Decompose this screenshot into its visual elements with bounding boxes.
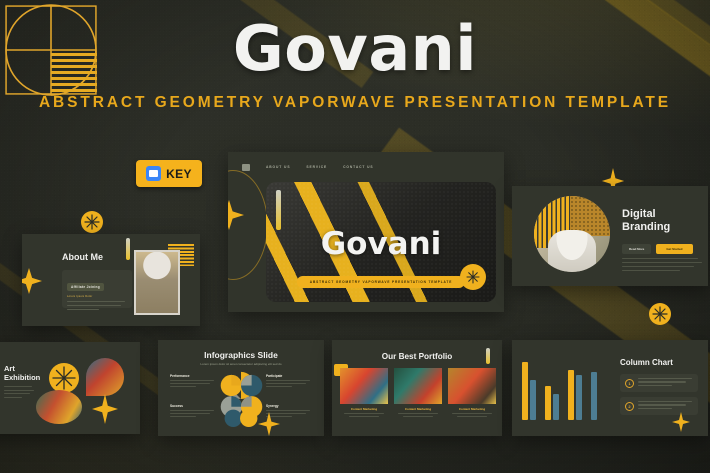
branding-collage-image bbox=[534, 196, 610, 272]
artwork-image bbox=[86, 358, 124, 396]
list-item[interactable]: Content Marketing bbox=[448, 368, 496, 417]
infographic-item: Participate bbox=[266, 374, 314, 389]
chart-bar bbox=[530, 380, 536, 420]
text-line bbox=[266, 386, 292, 387]
chart-bar-group bbox=[522, 362, 536, 420]
slide-title-line2: Branding bbox=[622, 221, 670, 233]
about-card-subtitle: Lorem Ipsum Dolor bbox=[67, 295, 127, 298]
slide-subtitle: Lorem ipsum dolor sit amet consectetur a… bbox=[158, 362, 324, 366]
slide-preview-about-me[interactable]: About Me Affiliate Joining Lorem Ipsum D… bbox=[22, 234, 200, 326]
decorative-arc bbox=[228, 170, 268, 280]
format-badge-label: KEY bbox=[166, 167, 192, 181]
chart-bar-group bbox=[568, 370, 582, 420]
portfolio-caption: Content Marketing bbox=[394, 407, 442, 411]
four-point-star-icon bbox=[92, 394, 118, 424]
text-line bbox=[4, 397, 22, 398]
about-card-tag: Affiliate Joining bbox=[67, 283, 104, 291]
paragraph-placeholder bbox=[4, 386, 34, 400]
slide-preview-infographics[interactable]: Infographics Slide Lorem ipsum dolor sit… bbox=[158, 340, 324, 436]
keynote-icon bbox=[146, 166, 161, 181]
slide-preview-portfolio[interactable]: Our Best Portfolio Content Marketing Con… bbox=[332, 340, 502, 436]
text-line bbox=[452, 413, 492, 414]
text-line bbox=[349, 416, 379, 417]
starburst-icon bbox=[460, 264, 486, 290]
chart-legend-row: 1 bbox=[620, 374, 698, 392]
accent-bar bbox=[126, 238, 130, 260]
portfolio-image bbox=[340, 368, 388, 404]
text-line bbox=[457, 416, 487, 417]
text-line bbox=[67, 305, 121, 306]
text-line bbox=[170, 416, 196, 417]
text-line bbox=[67, 309, 99, 310]
slide-title-line2: Exhibition bbox=[4, 373, 40, 382]
slide-title: Art Exhibition bbox=[4, 364, 40, 383]
chart-bar bbox=[568, 370, 574, 420]
slide-title-line1: Art bbox=[4, 364, 15, 373]
slide-preview-hero[interactable]: ABOUT US SERVICE CONTACT US Govani ABSTR… bbox=[228, 152, 504, 312]
portfolio-caption: Content Marketing bbox=[340, 407, 388, 411]
nav-item-about[interactable]: ABOUT US bbox=[266, 165, 290, 169]
list-item[interactable]: Content Marketing bbox=[340, 368, 388, 417]
read-more-button[interactable]: Read More bbox=[622, 244, 651, 254]
hero-text-block: Govani ABSTRACT GEOMETRY VAPORWAVE PRESE… bbox=[0, 18, 710, 112]
slide-preview-digital-branding[interactable]: Digital Branding Read More Get Started bbox=[512, 186, 708, 286]
slide-title: Column Chart bbox=[620, 358, 673, 367]
hamburger-icon[interactable] bbox=[242, 164, 250, 171]
slide-button-group: Read More Get Started bbox=[622, 244, 693, 254]
slide-title: About Me bbox=[62, 252, 103, 262]
chart-bar bbox=[576, 375, 582, 420]
text-line bbox=[398, 413, 438, 414]
list-item[interactable]: Content Marketing bbox=[394, 368, 442, 417]
text-line bbox=[344, 413, 384, 414]
slide-title: Infographics Slide bbox=[158, 350, 324, 360]
chart-bar bbox=[591, 372, 597, 420]
text-line bbox=[638, 385, 672, 386]
figure-silhouette bbox=[548, 230, 596, 272]
text-line bbox=[170, 383, 210, 384]
get-started-button[interactable]: Get Started bbox=[656, 244, 692, 254]
paragraph-placeholder bbox=[638, 378, 692, 387]
four-point-star-icon bbox=[672, 412, 690, 432]
text-line bbox=[622, 270, 680, 271]
text-line bbox=[4, 390, 34, 391]
infographic-label: Performance bbox=[170, 374, 218, 378]
portfolio-card-list: Content Marketing Content Marketing Cont… bbox=[340, 368, 496, 417]
slide-title: Govani bbox=[266, 226, 496, 262]
text-line bbox=[638, 381, 686, 382]
starburst-circle-icon bbox=[48, 362, 80, 394]
infographic-item: Success bbox=[170, 404, 218, 419]
page-title: Govani bbox=[0, 18, 710, 80]
slide-preview-art-exhibition[interactable]: Art Exhibition bbox=[0, 342, 140, 434]
starburst-glyph bbox=[464, 268, 482, 286]
infographic-label: Participate bbox=[266, 374, 314, 378]
slide-title-line1: Digital bbox=[622, 208, 656, 220]
nav-item-contact[interactable]: CONTACT US bbox=[343, 165, 373, 169]
slide-title: Our Best Portfolio bbox=[332, 352, 502, 361]
text-line bbox=[266, 380, 310, 381]
text-line bbox=[170, 413, 210, 414]
avatar bbox=[134, 250, 180, 315]
chart-bar bbox=[545, 386, 551, 420]
text-line bbox=[638, 404, 686, 405]
portfolio-image bbox=[394, 368, 442, 404]
accent-bar bbox=[486, 348, 490, 364]
slide-navbar: ABOUT US SERVICE CONTACT US bbox=[242, 162, 494, 172]
text-line bbox=[266, 383, 306, 384]
portfolio-image bbox=[448, 368, 496, 404]
text-line bbox=[622, 262, 702, 263]
chart-bar-group bbox=[591, 372, 597, 420]
text-line bbox=[67, 301, 125, 302]
format-badge-key[interactable]: KEY bbox=[136, 160, 202, 187]
text-line bbox=[4, 386, 32, 387]
text-line bbox=[638, 378, 692, 379]
infographic-item: Performance bbox=[170, 374, 218, 389]
infographic-label: Synergy bbox=[266, 404, 314, 408]
text-line bbox=[638, 401, 692, 402]
portfolio-caption: Content Marketing bbox=[448, 407, 496, 411]
artwork-image bbox=[36, 390, 82, 424]
chart-bar bbox=[553, 394, 559, 420]
page-subtitle: ABSTRACT GEOMETRY VAPORWAVE PRESENTATION… bbox=[0, 94, 710, 112]
text-line bbox=[638, 408, 672, 409]
slide-title: Digital Branding bbox=[622, 208, 670, 235]
text-line bbox=[170, 380, 214, 381]
chart-bar-group bbox=[545, 386, 559, 420]
hero-slide-photo: Govani ABSTRACT GEOMETRY VAPORWAVE PRESE… bbox=[266, 182, 496, 302]
status-badge: 1 bbox=[625, 379, 634, 388]
text-line bbox=[622, 266, 694, 267]
chart-bar bbox=[522, 362, 528, 420]
starburst-circle-icon bbox=[648, 302, 672, 326]
paragraph-placeholder bbox=[638, 401, 692, 410]
text-line bbox=[170, 386, 196, 387]
four-point-star-icon bbox=[22, 268, 42, 294]
nav-item-service[interactable]: SERVICE bbox=[306, 165, 327, 169]
text-line bbox=[4, 393, 30, 394]
accent-bar bbox=[276, 190, 281, 230]
paragraph-placeholder bbox=[622, 258, 702, 274]
text-line bbox=[170, 410, 214, 411]
text-line bbox=[266, 410, 310, 411]
column-chart bbox=[522, 358, 597, 420]
text-line bbox=[403, 416, 433, 417]
slide-subtitle-pill: ABSTRACT GEOMETRY VAPORWAVE PRESENTATION… bbox=[297, 276, 465, 288]
text-line bbox=[622, 258, 698, 259]
starburst-circle-icon bbox=[80, 210, 104, 234]
infographic-label: Success bbox=[170, 404, 218, 408]
about-info-card: Affiliate Joining Lorem Ipsum Dolor bbox=[62, 270, 132, 308]
status-badge: 2 bbox=[625, 402, 634, 411]
four-point-star-icon bbox=[258, 412, 280, 436]
